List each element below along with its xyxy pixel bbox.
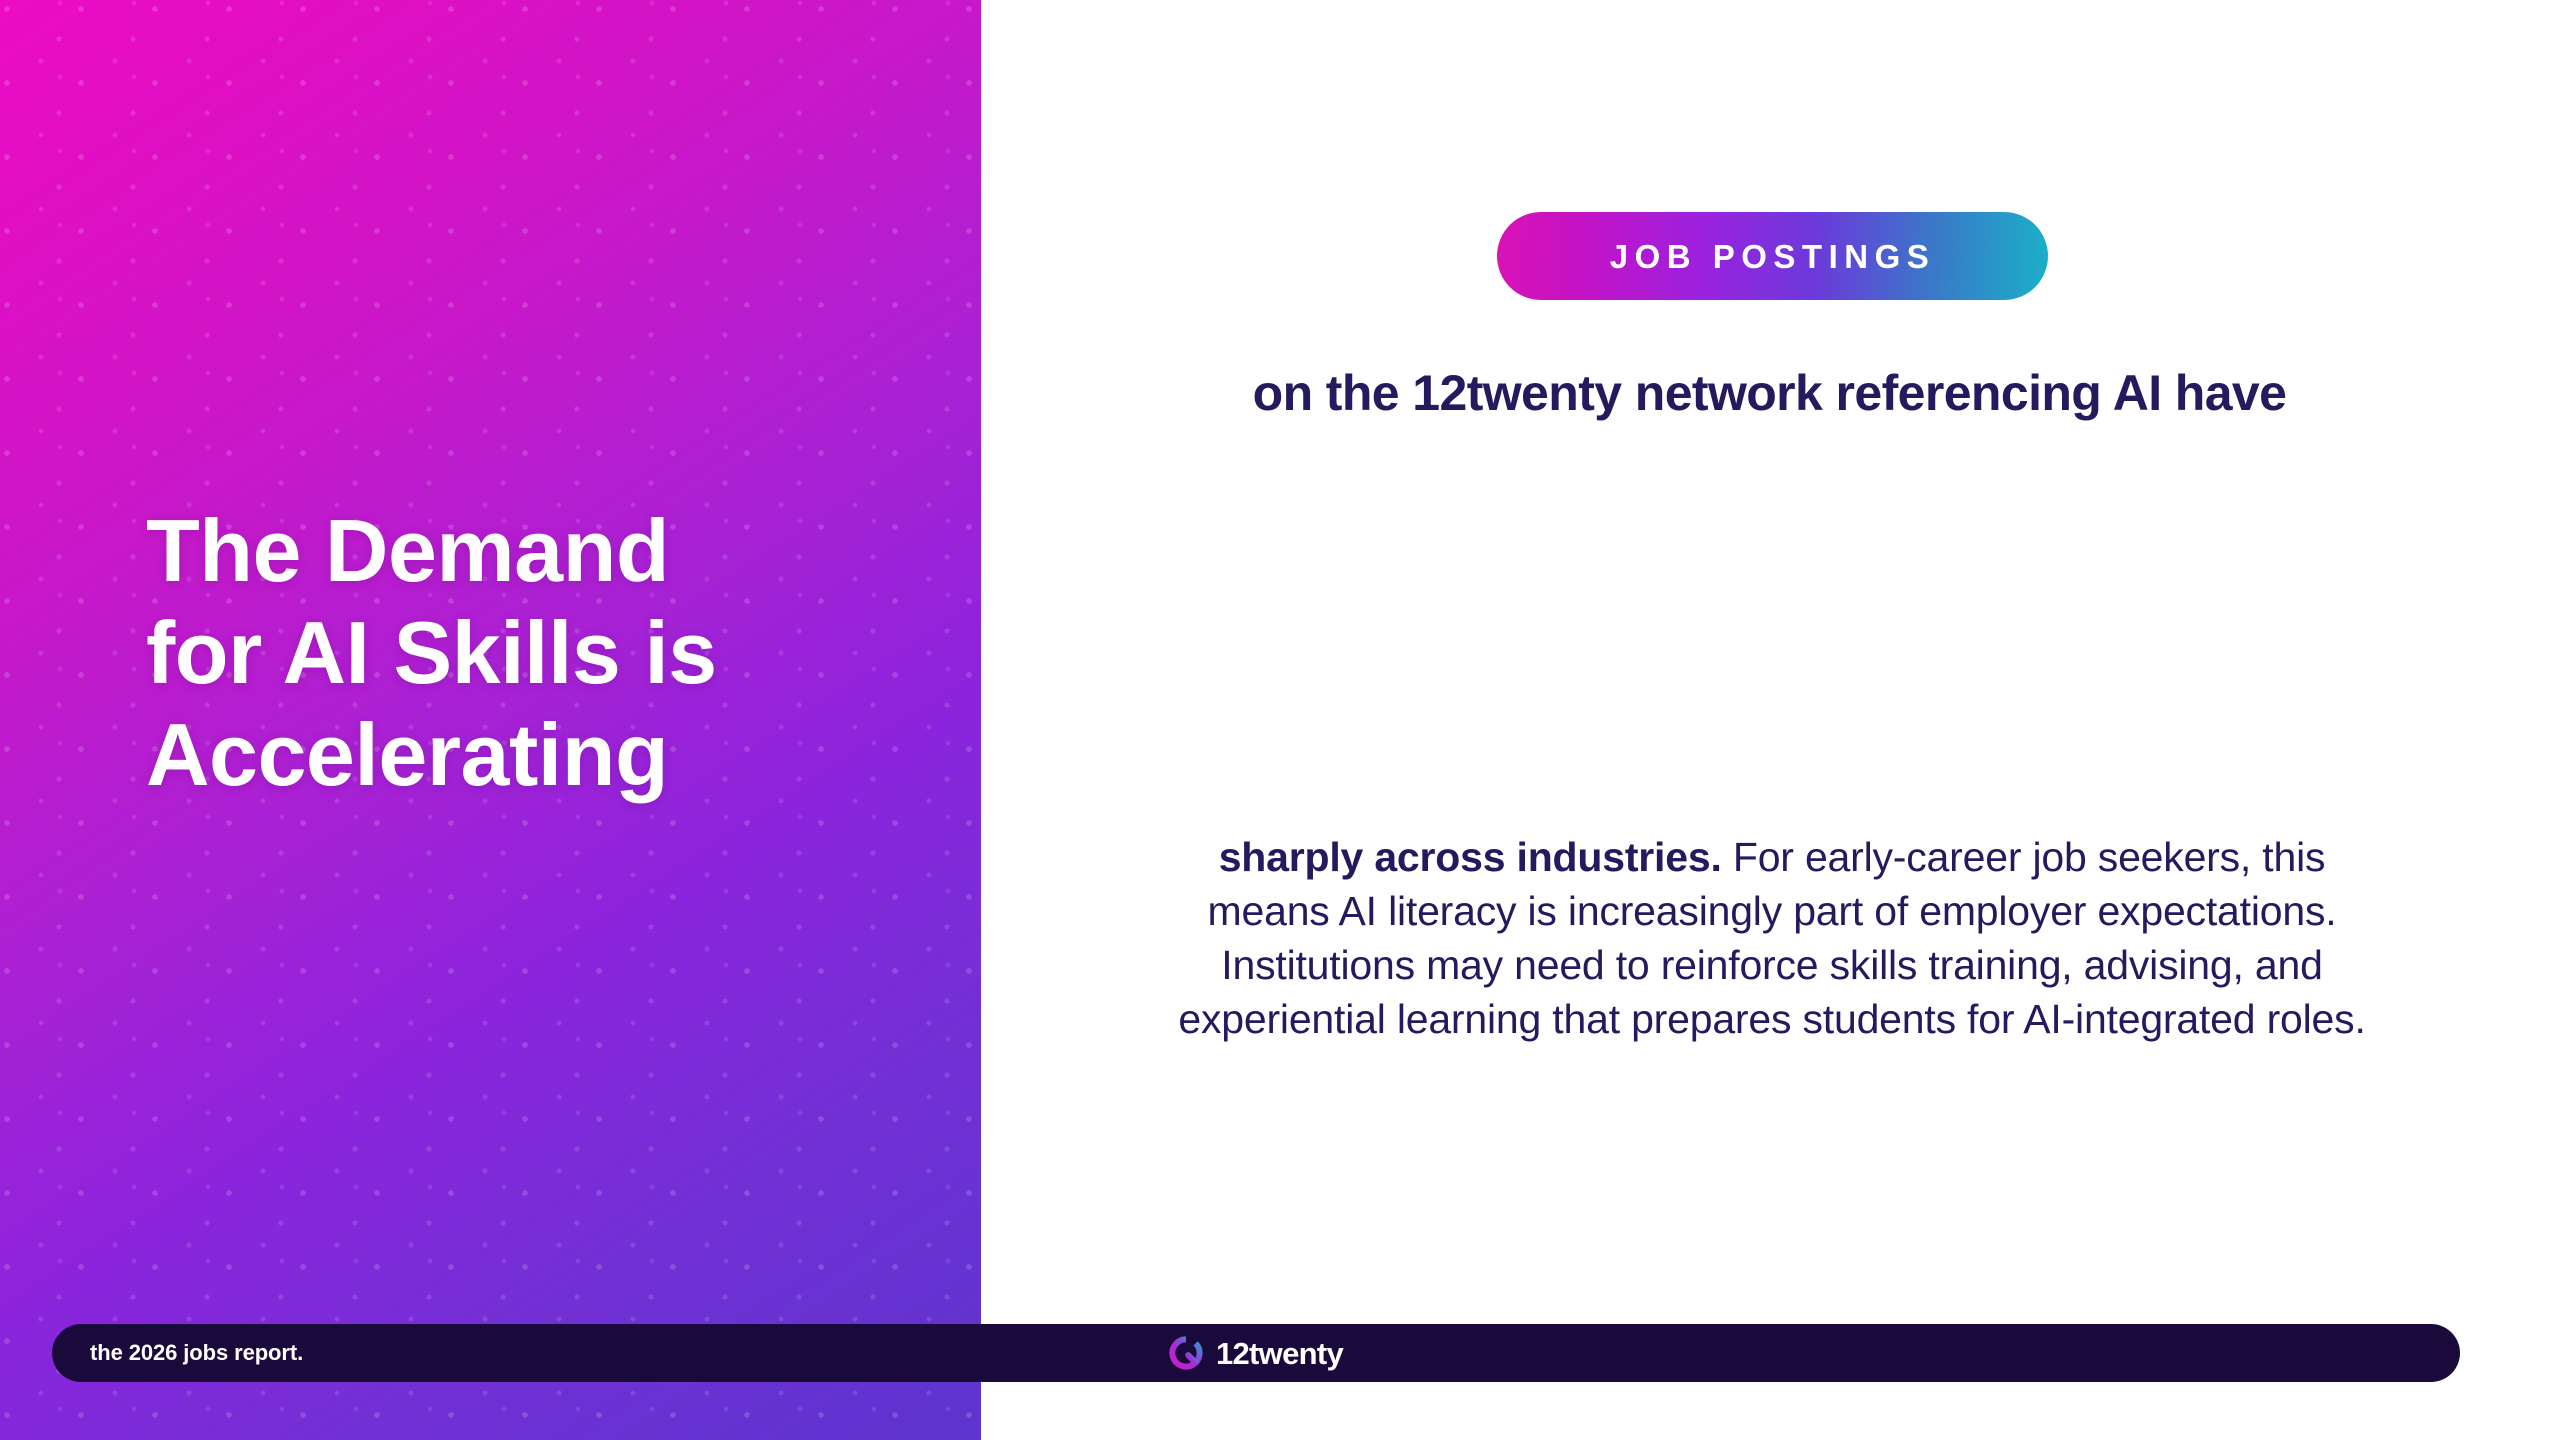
footer-logo-wordmark: 12twenty: [1216, 1338, 1343, 1369]
eyebrow-badge-label: JOB POSTINGS: [1610, 240, 1936, 273]
body-paragraph: sharply across industries. For early-car…: [1177, 830, 2367, 1046]
infographic-slide: The Demand for AI Skills is Accelerating…: [0, 0, 2558, 1440]
body-lead-sentence: sharply across industries.: [1219, 834, 1722, 880]
right-content-panel: JOB POSTINGS on the 12twenty network ref…: [981, 0, 2558, 1440]
eyebrow-badge: JOB POSTINGS: [1497, 212, 2048, 300]
hero-word: ACCELERATED: [1181, 447, 2473, 757]
footer-bar: the 2026 jobs report. 12twenty: [52, 1324, 2460, 1382]
footer-logo: 12twenty: [52, 1336, 2460, 1370]
left-gradient-panel: The Demand for AI Skills is Accelerating: [0, 0, 981, 1440]
hero-word-text: ACCELERATED: [1414, 438, 2558, 767]
footer-report-label: the 2026 jobs report.: [90, 1340, 303, 1366]
12twenty-ring-logo-icon: [1169, 1336, 1203, 1370]
slide-title: The Demand for AI Skills is Accelerating: [146, 500, 906, 806]
headline-lead-text: on the 12twenty network referencing AI h…: [981, 368, 2558, 418]
